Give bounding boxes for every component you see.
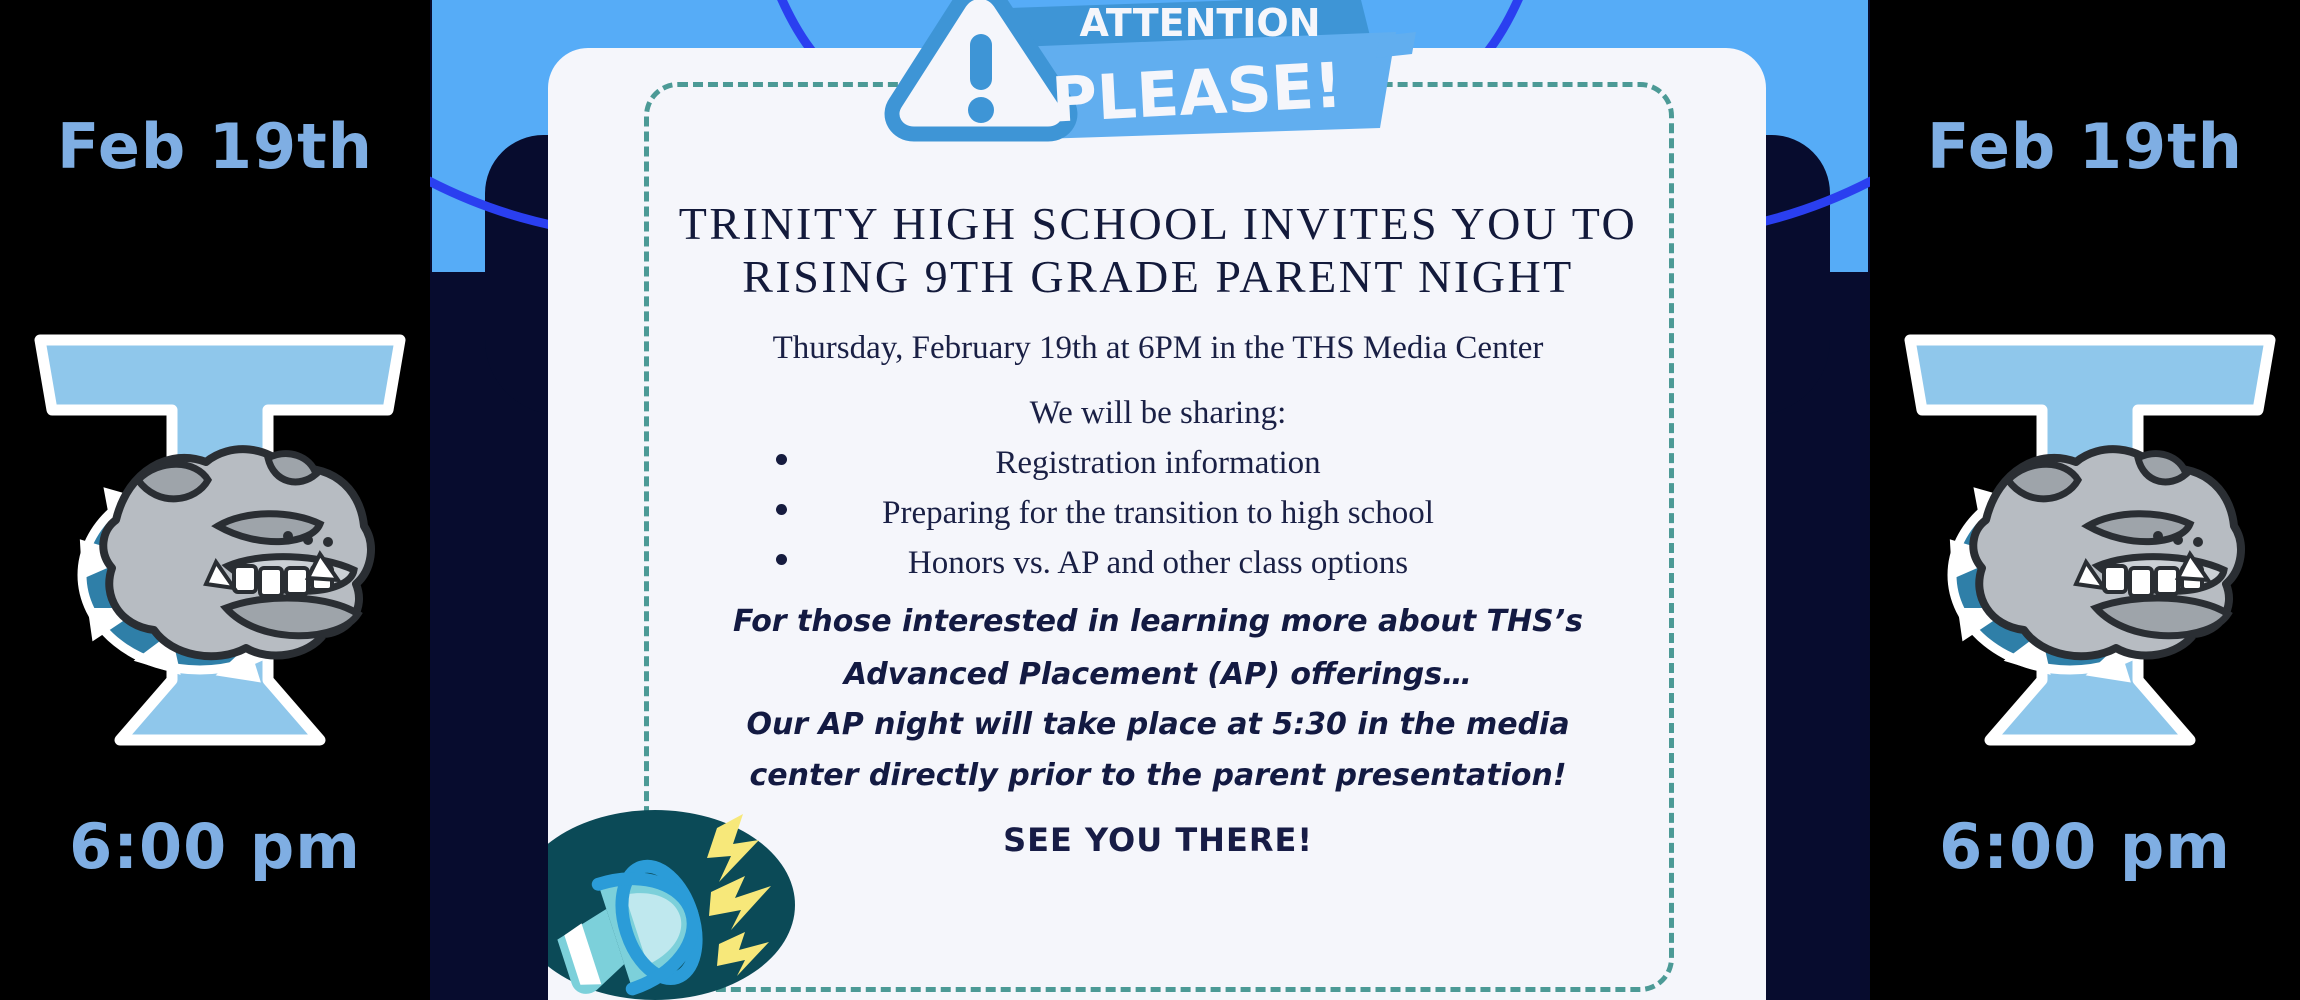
attention-please-badge: ATTENTION PLEASE! <box>860 0 1460 192</box>
list-item: Registration information <box>658 438 1658 488</box>
lead-in-text: We will be sharing: <box>658 395 1658 432</box>
left-side-column: Feb 19th <box>0 0 430 1000</box>
list-item: Honors vs. AP and other class options <box>658 538 1658 588</box>
card-content: TRINITY HIGH SCHOOL INVITES YOU TO RISIN… <box>658 198 1658 859</box>
ap-note-line-1: For those interested in learning more ab… <box>658 604 1658 641</box>
bullet-dot-icon <box>776 504 787 515</box>
megaphone-announcement-icon <box>548 790 835 1000</box>
left-date-label: Feb 19th <box>0 110 430 183</box>
trinity-bulldogs-logo-right <box>1890 330 2290 760</box>
badge-line-1: ATTENTION <box>1079 1 1320 45</box>
bullet-text: Honors vs. AP and other class options <box>908 545 1408 581</box>
bullet-dot-icon <box>776 554 787 565</box>
bullet-text: Preparing for the transition to high sch… <box>882 495 1434 531</box>
subheadline: Thursday, February 19th at 6PM in the TH… <box>658 330 1658 367</box>
ap-note-line-2: Advanced Placement (AP) offerings… <box>658 657 1658 694</box>
ap-detail-line-1: Our AP night will take place at 5:30 in … <box>658 707 1658 744</box>
trinity-bulldogs-logo-left <box>20 330 420 760</box>
flyer-canvas: Feb 19th <box>0 0 2300 1000</box>
sharing-bullet-list: Registration information Preparing for t… <box>658 438 1658 588</box>
headline-line-1: TRINITY HIGH SCHOOL INVITES YOU TO <box>658 198 1658 251</box>
bullet-dot-icon <box>776 454 787 465</box>
list-item: Preparing for the transition to high sch… <box>658 488 1658 538</box>
right-side-column: Feb 19th <box>1870 0 2300 1000</box>
badge-line-2: PLEASE! <box>1050 48 1344 136</box>
bullet-text: Registration information <box>995 445 1320 481</box>
right-time-label: 6:00 pm <box>1870 810 2300 883</box>
headline-line-2: RISING 9TH GRADE PARENT NIGHT <box>658 251 1658 304</box>
left-time-label: 6:00 pm <box>0 810 430 883</box>
right-date-label: Feb 19th <box>1870 110 2300 183</box>
